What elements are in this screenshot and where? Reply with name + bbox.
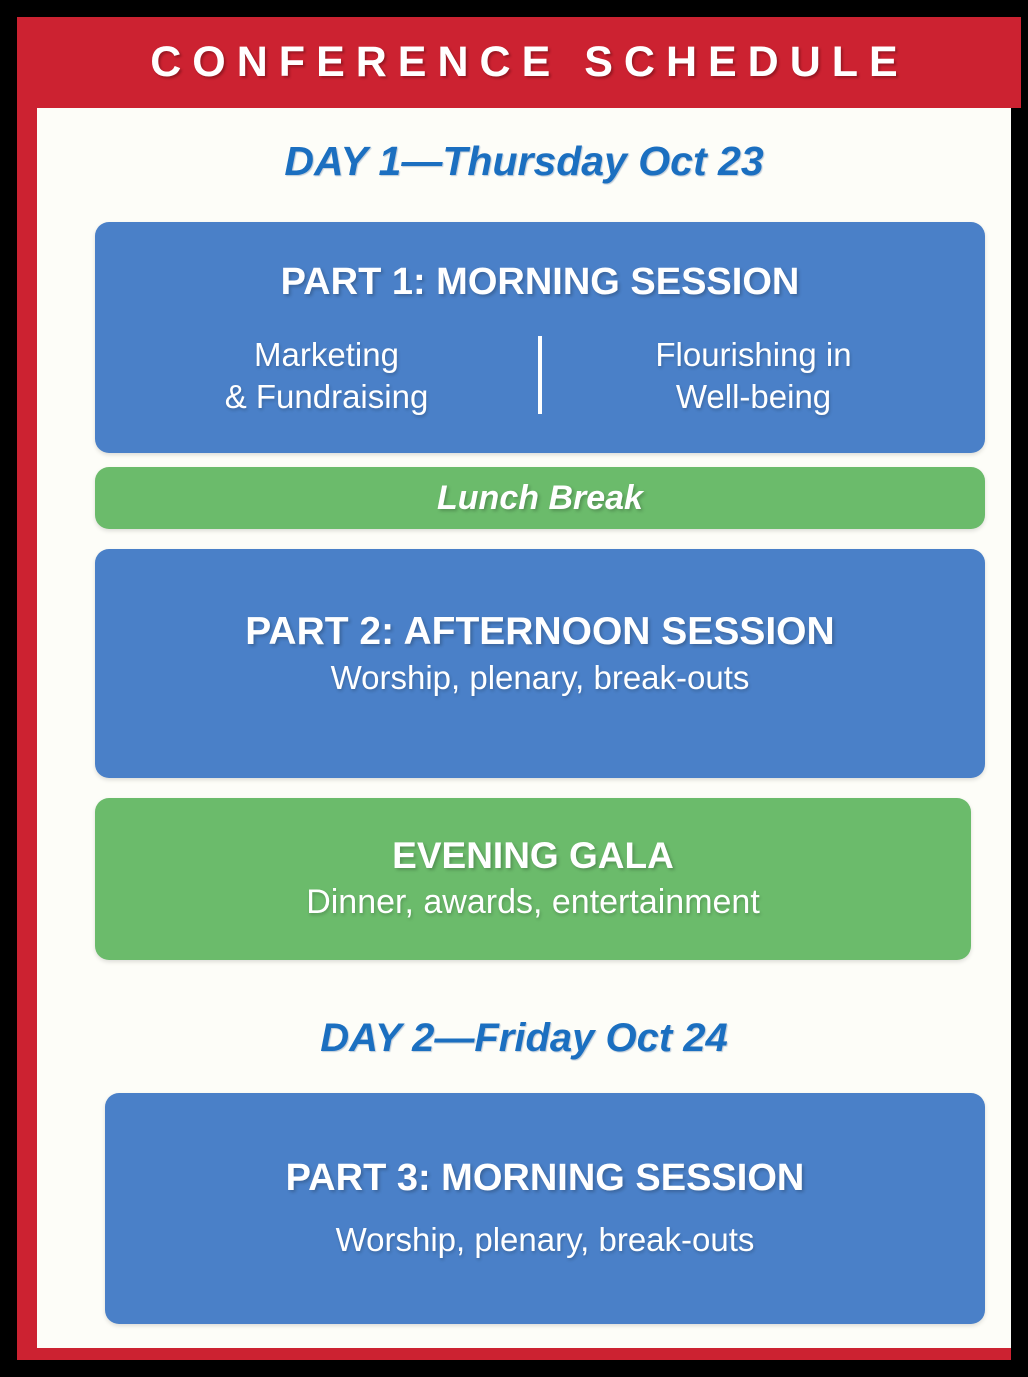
page-title: CONFERENCE SCHEDULE	[139, 38, 909, 87]
session-subtitle-part-3: Worship, plenary, break-outs	[105, 1221, 985, 1259]
schedule-sheet: DAY 1—Thursday Oct 23 PART 1: MORNING SE…	[37, 108, 1011, 1348]
poster-frame: CONFERENCE SCHEDULE DAY 1—Thursday Oct 2…	[17, 17, 1011, 1360]
day-1-heading: DAY 1—Thursday Oct 23	[37, 138, 1011, 185]
day-2-heading: DAY 2—Friday Oct 24	[37, 1016, 1011, 1061]
session-card-part-3[interactable]: PART 3: MORNING SESSION Worship, plenary…	[105, 1093, 985, 1324]
event-card-evening-gala[interactable]: EVENING GALA Dinner, awards, entertainme…	[95, 798, 971, 960]
track-line-2: Well-being	[556, 376, 951, 418]
session-title-part-1: PART 1: MORNING SESSION	[95, 261, 985, 304]
break-card-lunch[interactable]: Lunch Break	[95, 467, 985, 529]
session-card-part-2[interactable]: PART 2: AFTERNOON SESSION Worship, plena…	[95, 549, 985, 778]
track-marketing-fundraising[interactable]: Marketing & Fundraising	[129, 334, 524, 418]
track-flourishing-wellbeing[interactable]: Flourishing in Well-being	[556, 334, 951, 418]
break-title-lunch: Lunch Break	[437, 479, 643, 518]
track-line-2: & Fundraising	[129, 376, 524, 418]
track-divider	[538, 336, 542, 414]
track-line-1: Marketing	[129, 334, 524, 376]
session-subtitle-part-2: Worship, plenary, break-outs	[95, 659, 985, 697]
session-title-part-3: PART 3: MORNING SESSION	[105, 1157, 985, 1200]
part-1-tracks: Marketing & Fundraising Flourishing in W…	[95, 334, 985, 418]
track-line-1: Flourishing in	[556, 334, 951, 376]
event-subtitle-evening-gala: Dinner, awards, entertainment	[95, 883, 971, 922]
event-title-evening-gala: EVENING GALA	[95, 835, 971, 877]
header-band: CONFERENCE SCHEDULE	[27, 17, 1021, 108]
session-card-part-1[interactable]: PART 1: MORNING SESSION Marketing & Fund…	[95, 222, 985, 453]
session-title-part-2: PART 2: AFTERNOON SESSION	[95, 610, 985, 654]
